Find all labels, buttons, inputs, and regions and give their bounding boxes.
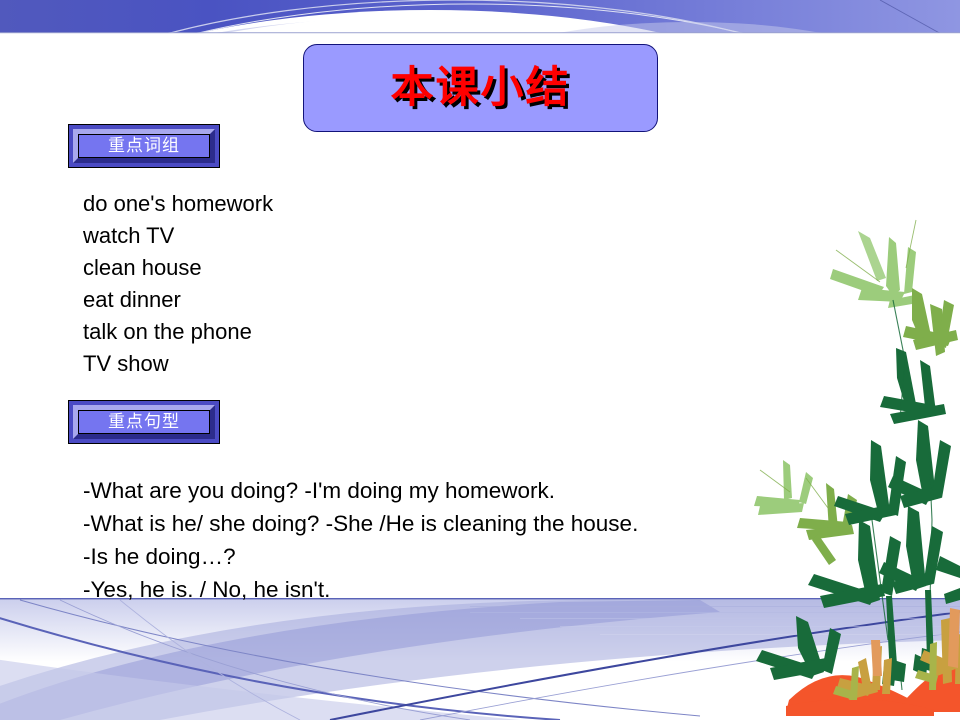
- list-item: -What are you doing? -I'm doing my homew…: [83, 474, 638, 507]
- slide-title-text: 本课小结: [391, 67, 571, 110]
- list-item: clean house: [83, 252, 273, 284]
- list-item: eat dinner: [83, 284, 273, 316]
- list-item: TV show: [83, 348, 273, 380]
- list-item: -What is he/ she doing? -She /He is clea…: [83, 507, 638, 540]
- section-label-text: 重点句型: [108, 414, 180, 431]
- key-patterns-list: -What are you doing? -I'm doing my homew…: [83, 474, 638, 606]
- label-inner: 重点句型: [78, 410, 210, 434]
- list-item: talk on the phone: [83, 316, 273, 348]
- list-item: -Yes, he is. / No, he isn't.: [83, 573, 638, 606]
- bevel-frame: 重点词组: [73, 129, 215, 163]
- bamboo-mid-leaves: [797, 288, 958, 565]
- slide-canvas: 本课小结 重点词组 do one's homework watch TV cle…: [0, 0, 960, 720]
- list-item: do one's homework: [83, 188, 273, 220]
- section-label-key-patterns: 重点句型: [68, 400, 220, 444]
- list-item: watch TV: [83, 220, 273, 252]
- wheat-fronds: [833, 608, 960, 700]
- bamboo-dark-leaves: [756, 348, 960, 686]
- label-inner: 重点词组: [78, 134, 210, 158]
- section-label-key-phrases: 重点词组: [68, 124, 220, 168]
- bamboo-light-leaves-lower: [754, 460, 813, 515]
- bevel-frame: 重点句型: [73, 405, 215, 439]
- bamboo-light-leaves: [830, 231, 920, 308]
- list-item: -Is he doing…?: [83, 540, 638, 573]
- soil-mounds: [786, 665, 960, 716]
- slide-title-box: 本课小结: [303, 44, 658, 132]
- bamboo-stem-lines: [872, 300, 932, 690]
- section-label-text: 重点词组: [108, 138, 180, 155]
- key-phrases-list: do one's homework watch TV clean house e…: [83, 188, 273, 380]
